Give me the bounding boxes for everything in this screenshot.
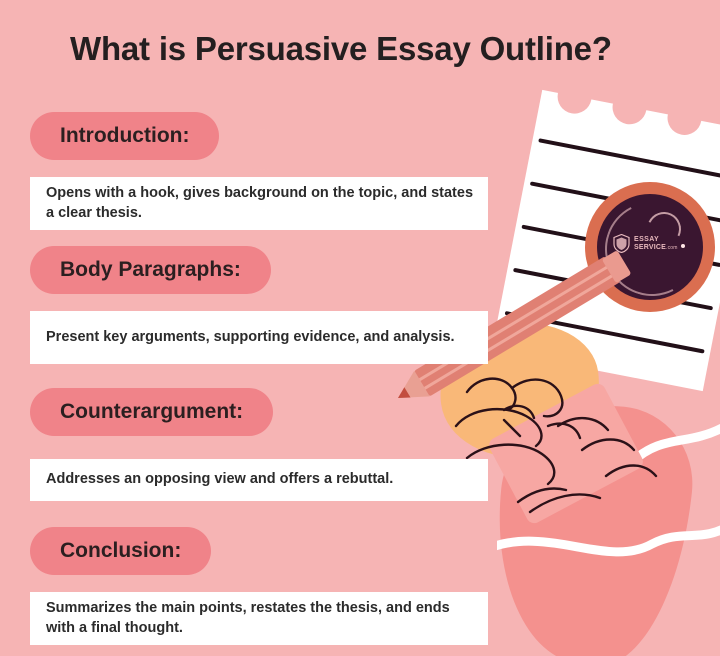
notepad-notch — [610, 87, 650, 127]
section-body-introduction: Opens with a hook, gives background on t… — [30, 177, 488, 230]
pencil-wood-tip — [390, 371, 429, 411]
sleeve-wave-stripe — [507, 428, 720, 473]
section-heading-counterargument: Counterargument: — [30, 388, 273, 436]
cuff-fold-line — [606, 466, 656, 477]
coffee-cup-highlight-dot — [681, 244, 685, 248]
coffee-cup-liquid — [597, 194, 703, 300]
hand-finger-outlines — [430, 330, 700, 560]
notepad-icon — [492, 90, 720, 391]
section-body-text: Present key arguments, supporting eviden… — [46, 328, 455, 347]
pencil-eraser — [602, 250, 632, 283]
brand-line-2: SERVICE.com — [634, 244, 678, 251]
sleeve-wave-stripe — [497, 524, 720, 552]
pencil-lead — [395, 387, 411, 403]
coffee-cup-icon — [585, 182, 715, 312]
section-heading-body-paragraphs: Body Paragraphs: — [30, 246, 271, 294]
section-body-counterargument: Addresses an opposing view and offers a … — [30, 459, 488, 501]
cuff-fold-line — [558, 418, 608, 430]
notepad-notch — [665, 98, 705, 138]
cuff-fold-line — [582, 440, 634, 451]
page-title: What is Persuasive Essay Outline? — [70, 30, 670, 68]
notepad-rule-line — [538, 138, 720, 181]
brand-tld: .com — [666, 245, 678, 251]
notepad-notch — [555, 77, 595, 117]
notepad-sheet — [492, 90, 720, 391]
coffee-cup-highlight-arc-small — [642, 207, 686, 251]
knuckle-outline — [518, 489, 566, 503]
notepad-rule-line — [521, 225, 720, 268]
shield-icon — [613, 234, 630, 253]
section-body-text: Opens with a hook, gives background on t… — [46, 184, 474, 222]
section-heading-label: Counterargument: — [60, 400, 243, 424]
brand-line-1: ESSAY — [634, 236, 678, 243]
finger-outline — [548, 424, 580, 438]
notepad-rule-line — [530, 181, 720, 224]
finger-outline — [467, 379, 515, 410]
section-body-text: Addresses an opposing view and offers a … — [46, 470, 393, 489]
finger-outline — [512, 380, 562, 417]
brand-logo: ESSAY SERVICE.com — [613, 234, 678, 253]
notepad-rule-line — [505, 311, 705, 354]
section-body-conclusion: Summarizes the main points, restates the… — [30, 592, 488, 645]
section-heading-conclusion: Conclusion: — [30, 527, 211, 575]
finger-crease — [504, 420, 520, 436]
brand-wordmark: ESSAY SERVICE.com — [634, 236, 678, 250]
section-body-text: Summarizes the main points, restates the… — [46, 599, 474, 637]
section-heading-label: Conclusion: — [60, 539, 181, 563]
infographic-canvas: ESSAY SERVICE.com — [0, 0, 720, 656]
finger-outline — [456, 409, 541, 446]
cuff-edge-line — [530, 494, 600, 512]
sleeve-wave-decoration — [497, 404, 720, 656]
finger-outline — [504, 406, 534, 418]
notepad-rule-line — [513, 268, 713, 311]
coffee-cup-highlight-arc — [593, 190, 711, 308]
section-heading-label: Body Paragraphs: — [60, 258, 241, 282]
forearm-sleeve — [484, 395, 700, 656]
sleeve-cuff — [486, 381, 645, 526]
section-body-body-paragraphs: Present key arguments, supporting eviden… — [30, 311, 488, 364]
section-heading-label: Introduction: — [60, 124, 189, 148]
section-heading-introduction: Introduction: — [30, 112, 219, 160]
